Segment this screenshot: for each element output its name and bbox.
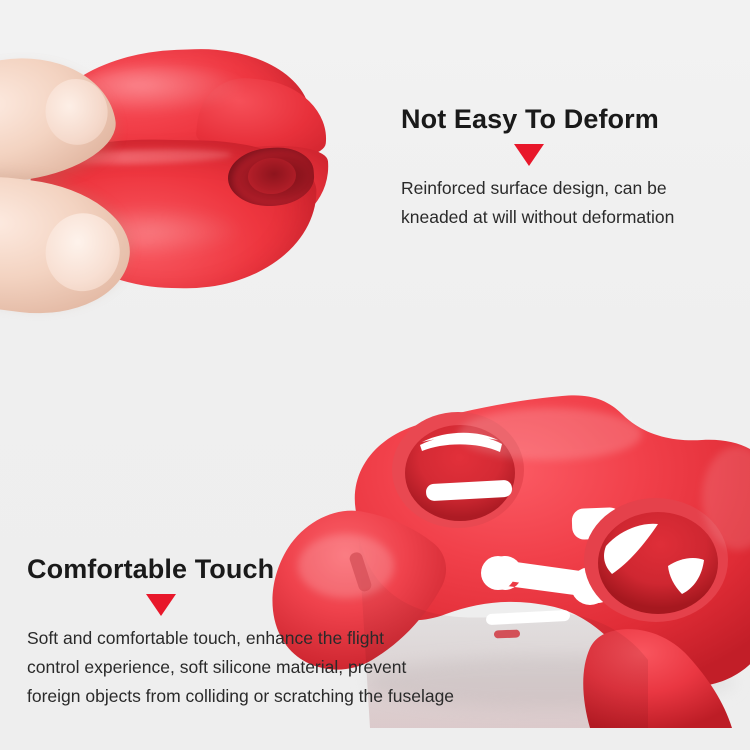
triangle-down-marker-icon xyxy=(514,144,544,166)
feature-heading: Comfortable Touch xyxy=(27,556,274,583)
feature-description: Reinforced surface design, can be kneade… xyxy=(401,174,721,232)
cover-highlight-left-grip xyxy=(298,534,394,598)
product-feature-image: Not Easy To Deform Reinforced surface de… xyxy=(0,0,750,750)
feature-block-comfortable-touch: Comfortable Touch Soft and comfortable t… xyxy=(27,556,274,583)
feature-block-not-easy-to-deform: Not Easy To Deform Reinforced surface de… xyxy=(401,106,659,133)
hand-squeezing-silicone-cover-photo xyxy=(0,28,340,313)
feature-heading: Not Easy To Deform xyxy=(401,106,659,133)
triangle-down-marker-icon xyxy=(146,594,176,616)
bottom-vent-slot xyxy=(494,630,520,639)
feature-description: Soft and comfortable touch, enhance the … xyxy=(27,624,497,711)
cover-highlight-top xyxy=(458,408,642,460)
